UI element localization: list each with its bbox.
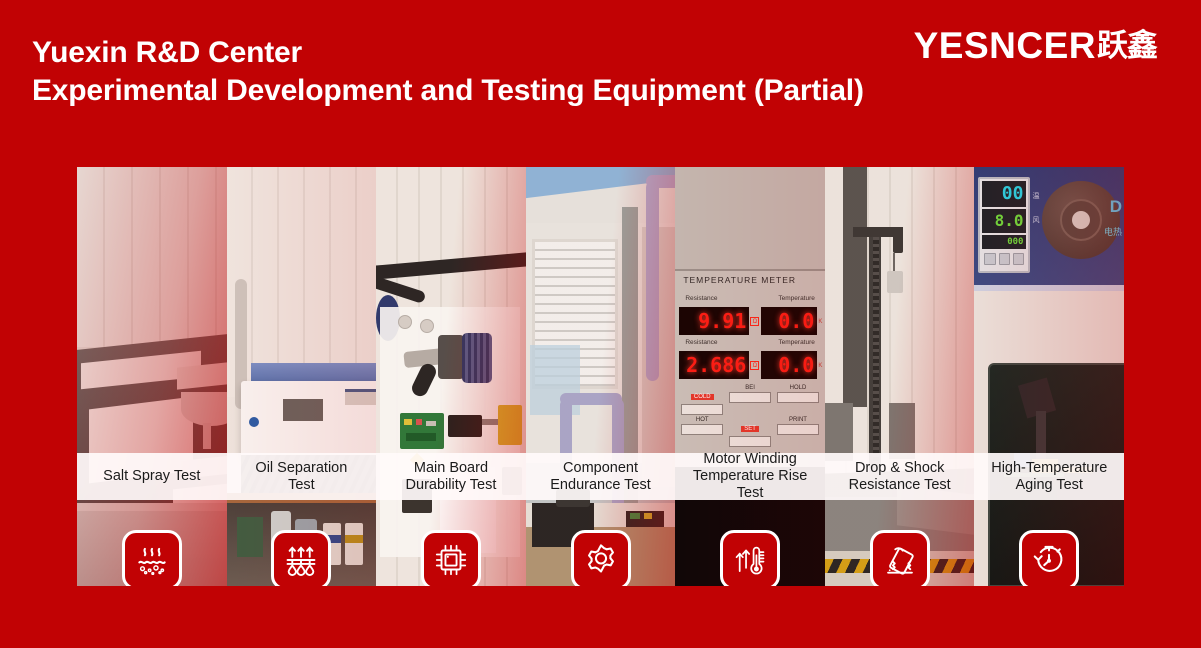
panel-label: Oil Separation Test [227,453,377,500]
page-title: Yuexin R&D Center Experimental Developme… [32,34,852,110]
resistance-unit-1: Ω [753,319,758,325]
panel-label: Drop & Shock Resistance Test [825,453,975,500]
badge-salt-spray-icon[interactable] [122,530,182,586]
meter-button-label-bei: BEI [729,385,771,391]
temperature-value-1: 0.0 [778,311,814,331]
oil-separation-icon [282,541,320,579]
panel-high-temperature-aging-test[interactable]: 00 8.0 000 温 [974,167,1124,586]
meter-button-label-cold: COLD [691,394,714,400]
oven-button-set[interactable] [1013,253,1024,265]
badge-main-board-icon[interactable] [421,530,481,586]
panel-label-text: Oil Separation Test [251,460,351,494]
panel-oil-separation-test[interactable]: Oil Separation Test [227,167,377,586]
temperature-value-2: 0.0 [778,355,814,375]
badge-component-endurance-icon[interactable] [571,530,631,586]
oven-display-top: 00 [1002,185,1024,203]
oven-button-up[interactable] [984,253,995,265]
photo-component-endurance-frame [526,167,676,586]
oven-display-low: 000 [1007,238,1023,247]
panel-salt-spray-test[interactable]: Salt Spray Test [77,167,227,586]
oven-display-mid: 8.0 [995,213,1024,229]
title-line-1: Yuexin R&D Center [32,34,852,72]
equipment-photo-strip: Salt Spray Test [77,167,1124,586]
gear-icon [582,541,620,579]
resistance-unit-2: Ω [753,363,758,369]
resistance-value-1: 9.91 [698,311,746,331]
meter-button-cold[interactable] [681,404,723,415]
resistance-value-2: 2.686 [686,355,746,375]
panel-label-text: Salt Spray Test [99,468,204,485]
meter-button-hot[interactable] [681,424,723,435]
device-title: TEMPERATURE METER [677,275,823,285]
salt-spray-icon [133,541,171,579]
badge-temperature-rise-icon[interactable] [720,530,780,586]
brand-logo-latin: YESNCER [914,26,1096,66]
panel-label: High-Temperature Aging Test [974,453,1124,500]
panel-main-board-durability-test[interactable]: Main Board Durability Test [376,167,526,586]
title-line-2: Experimental Development and Testing Equ… [32,72,852,110]
brand-logo: YESNCER 跃鑫 [914,26,1157,66]
temperature-unit-2: K [818,363,822,369]
panel-label: Motor Winding Temperature Rise Test [675,453,825,500]
meter-button-label-hold: HOLD [777,385,819,391]
meter-button-print[interactable] [777,424,819,435]
meter-button-set[interactable] [729,436,771,447]
slide-root: Yuexin R&D Center Experimental Developme… [0,0,1201,648]
thermometer-rise-icon [731,541,769,579]
photo-temperature-meter: TEMPERATURE METER Resistance Temperature… [675,167,825,586]
meter-button-label-set: SET [741,426,759,432]
oven-button-down[interactable] [999,253,1010,265]
panel-label: Main Board Durability Test [376,453,526,500]
oven-cjk-label-1: 温 [1032,193,1039,200]
oven-latin-label: D [1110,197,1122,216]
badge-drop-shock-icon[interactable] [870,530,930,586]
stopwatch-aging-icon [1030,541,1068,579]
panel-label: Salt Spray Test [77,453,227,500]
photo-drop-tester-tower [825,167,975,586]
main-board-chip-icon [432,541,470,579]
meter-button-hold[interactable] [777,392,819,403]
badge-aging-stopwatch-icon[interactable] [1019,530,1079,586]
panel-label-text: High-Temperature Aging Test [987,460,1111,494]
panel-label-text: Component Endurance Test [546,460,655,494]
photo-oil-separation-bench [227,167,377,586]
panel-label-text: Motor Winding Temperature Rise Test [675,451,825,502]
panel-label-text: Main Board Durability Test [402,460,501,494]
brand-logo-cjk: 跃鑫 [1097,26,1157,66]
photo-main-board-wall-rig [376,167,526,586]
temperature-unit-1: K [818,319,822,325]
meter-button-bei[interactable] [729,392,771,403]
photo-aging-oven: 00 8.0 000 温 [974,167,1124,586]
oven-cjk-label-3: 电热 [1104,227,1122,237]
panel-label-text: Drop & Shock Resistance Test [845,460,955,494]
meter-button-label-hot: HOT [681,417,723,423]
meter-button-label-print: PRINT [777,417,819,423]
badge-oil-separation-icon[interactable] [271,530,331,586]
panel-component-endurance-test[interactable]: Component Endurance Test [526,167,676,586]
photo-salt-spray-chamber [77,167,227,586]
panel-drop-shock-resistance-test[interactable]: Drop & Shock Resistance Test [825,167,975,586]
drop-shock-icon [881,541,919,579]
oven-cjk-label-2: 风 [1032,217,1039,224]
panel-label: Component Endurance Test [526,453,676,500]
panel-motor-winding-temperature-rise-test[interactable]: TEMPERATURE METER Resistance Temperature… [675,167,825,586]
